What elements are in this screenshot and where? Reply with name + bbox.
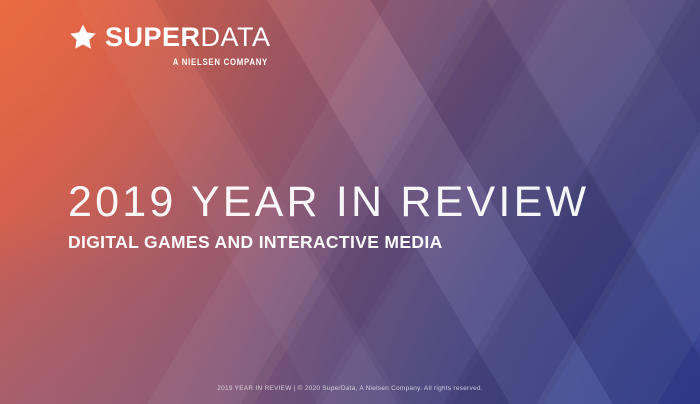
superdata-logo: SUPERDATA A NIELSEN COMPANY xyxy=(68,20,268,68)
logo-tagline: A NIELSEN COMPANY xyxy=(104,57,268,68)
page-title: 2019 YEAR IN REVIEW xyxy=(68,180,589,225)
logo-wordmark-row: SUPERDATA xyxy=(68,20,268,54)
title-block: 2019 YEAR IN REVIEW DIGITAL GAMES AND IN… xyxy=(68,180,589,253)
logo-wordmark-bold: SUPER xyxy=(105,22,201,52)
logo-wordmark: SUPERDATA xyxy=(105,24,271,51)
page-subtitle: DIGITAL GAMES AND INTERACTIVE MEDIA xyxy=(68,232,589,253)
logo-wordmark-light: DATA xyxy=(201,22,271,52)
report-cover-slide: SUPERDATA A NIELSEN COMPANY 2019 YEAR IN… xyxy=(0,0,700,404)
footer-copyright: 2019 YEAR IN REVIEW | © 2020 SuperData, … xyxy=(0,385,700,392)
star-icon xyxy=(68,22,98,52)
